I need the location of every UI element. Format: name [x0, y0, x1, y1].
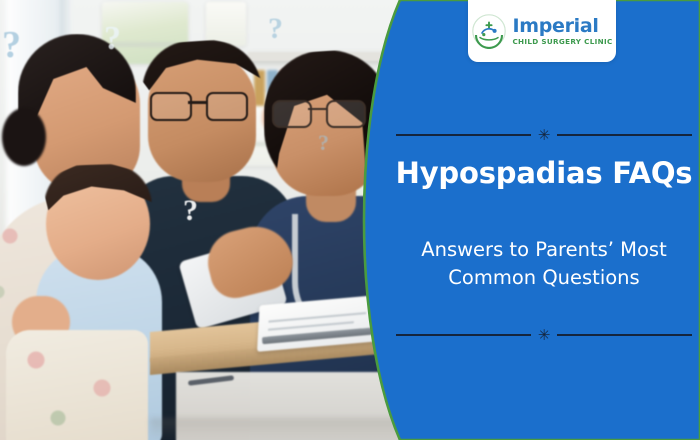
snowflake-ornament-icon: ✳	[538, 128, 551, 143]
clinic-logo-card[interactable]: Imperial CHILD SURGERY CLINIC	[468, 0, 616, 62]
divider-rule-left	[396, 134, 531, 135]
divider-top: ✳	[396, 126, 692, 144]
banner-subheadline: Answers to Parents’ Most Common Question…	[394, 236, 694, 291]
divider-rule-left	[396, 334, 531, 335]
father-glasses-icon	[150, 92, 254, 118]
baby-blanket	[6, 330, 148, 440]
divider-rule-right	[557, 134, 692, 135]
wall-poster-small	[206, 2, 246, 46]
divider-bottom: ✳	[396, 326, 692, 344]
mother-hair-bun	[2, 108, 46, 166]
clinic-name: Imperial	[512, 17, 598, 36]
clinic-logo-badge-icon	[471, 13, 507, 49]
hypospadias-faq-banner: ? ? ? ? ? Imperial	[0, 0, 700, 440]
snowflake-ornament-icon: ✳	[538, 328, 551, 343]
divider-rule-right	[557, 334, 692, 335]
panel-content: Imperial CHILD SURGERY CLINIC ✳ Hypospad…	[388, 0, 700, 440]
clinic-logo-text: Imperial CHILD SURGERY CLINIC	[512, 17, 612, 46]
doctor-glasses-icon	[272, 100, 370, 125]
banner-headline: Hypospadias FAQs	[388, 158, 700, 190]
clinic-tagline: CHILD SURGERY CLINIC	[512, 38, 612, 45]
